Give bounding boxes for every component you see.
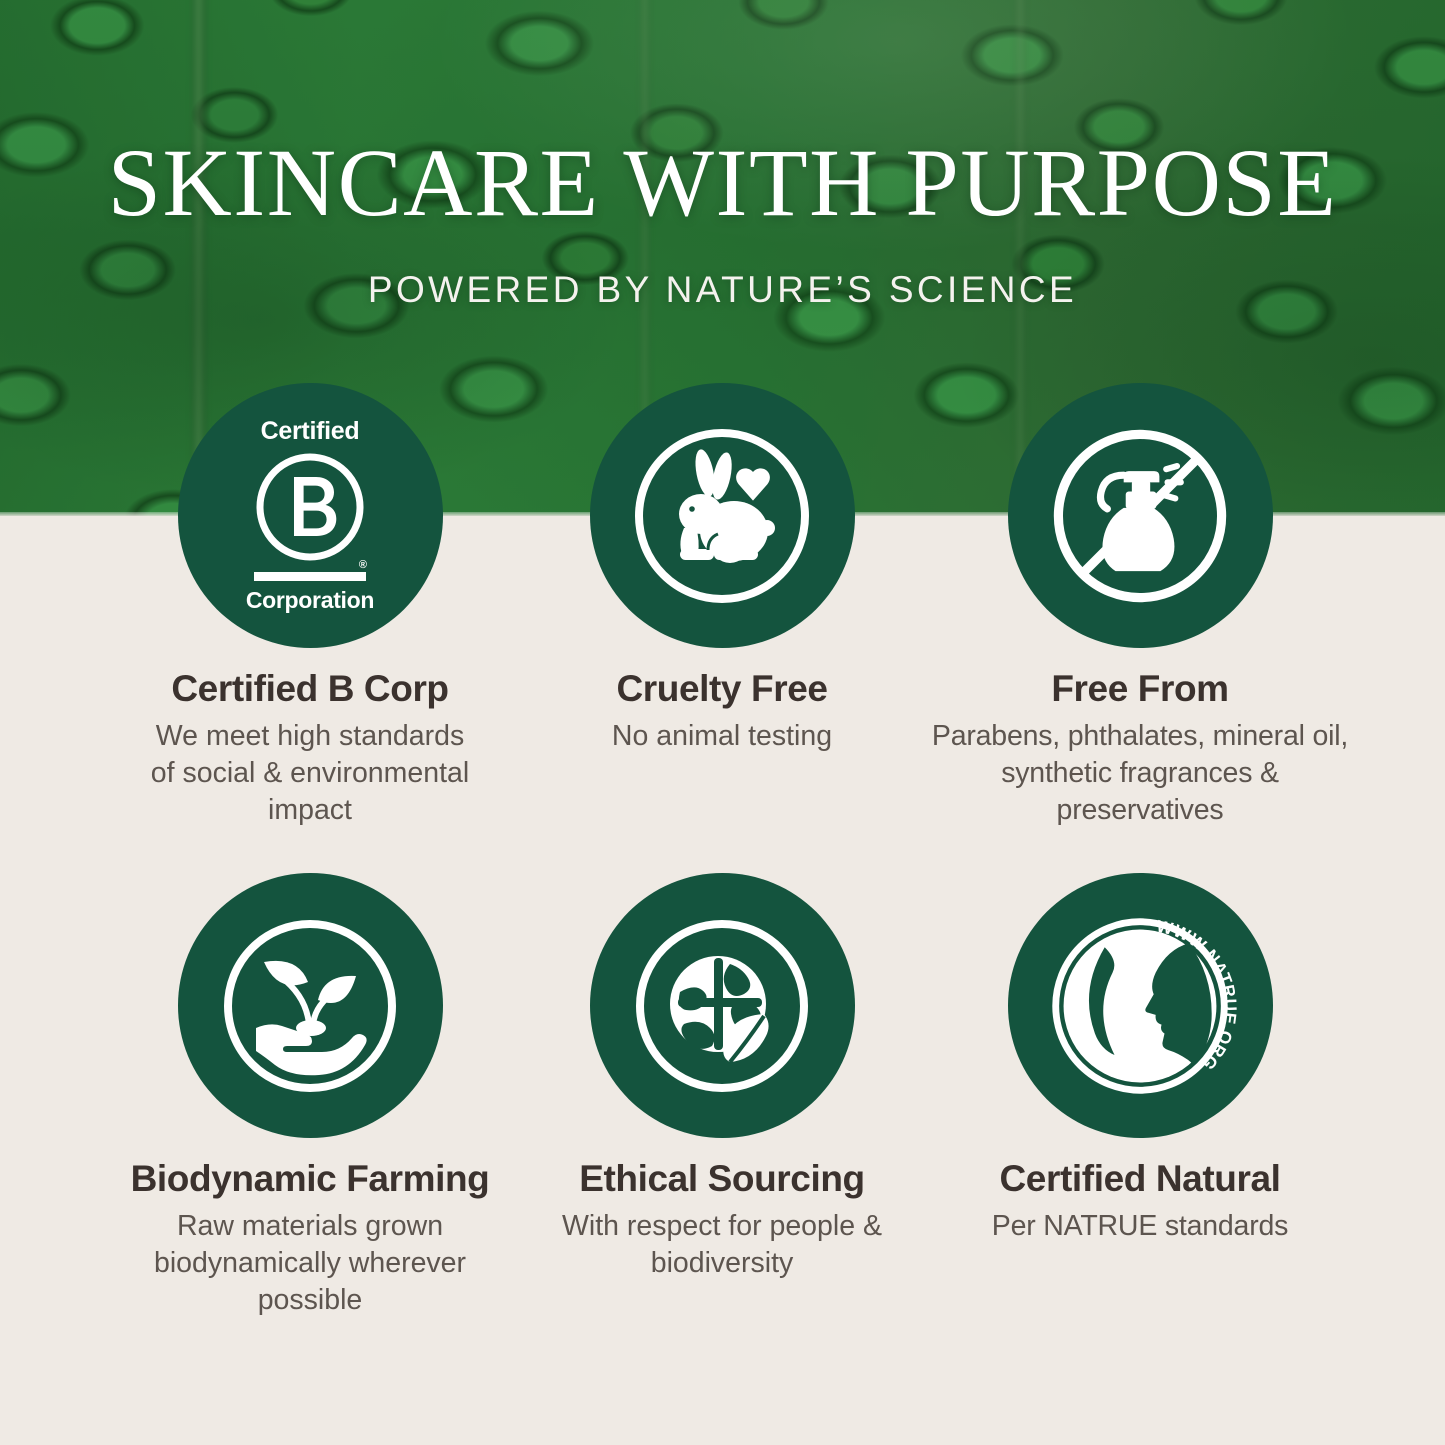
badge-description: Raw materials grown biodynamically where… bbox=[130, 1208, 490, 1319]
marketing-infographic: SKINCARE WITH PURPOSE POWERED BY NATURE’… bbox=[0, 0, 1445, 1445]
badge-caption: Biodynamic Farming Raw materials grown b… bbox=[100, 1158, 520, 1319]
badge-title: Free From bbox=[930, 668, 1350, 711]
badge-title: Cruelty Free bbox=[512, 668, 932, 711]
badge-description: Per NATRUE standards bbox=[930, 1208, 1350, 1245]
bcorp-b-mark bbox=[254, 451, 366, 563]
badge-description: Parabens, phthalates, mineral oil, synth… bbox=[930, 718, 1350, 829]
certified-b-corporation-logo: Certified ® Corporation bbox=[178, 383, 443, 648]
badge-item-cruelty-free: Cruelty Free No animal testing bbox=[512, 383, 932, 755]
badge-item-certified-b-corp: Certified ® Corporation Certified B Corp bbox=[100, 383, 520, 829]
natrue-certified-natural-logo: WWW.NATRUE.ORG bbox=[1008, 873, 1273, 1138]
badge-description: We meet high standards of social & envir… bbox=[145, 718, 475, 829]
badge-description: No animal testing bbox=[512, 718, 932, 755]
rabbit-with-heart-icon bbox=[590, 383, 855, 648]
bcorp-corporation-label: Corporation bbox=[178, 589, 443, 612]
badge-caption: Cruelty Free No animal testing bbox=[512, 668, 932, 755]
registered-trademark-icon: ® bbox=[359, 560, 367, 571]
badge-caption: Ethical Sourcing With respect for people… bbox=[512, 1158, 932, 1282]
badge-item-biodynamic-farming: Biodynamic Farming Raw materials grown b… bbox=[100, 873, 520, 1319]
badge-caption: Certified B Corp We meet high standards … bbox=[100, 668, 520, 829]
badge-grid: Certified ® Corporation Certified B Corp bbox=[0, 0, 1445, 1445]
badge-title: Certified B Corp bbox=[100, 668, 520, 711]
badge-caption: Certified Natural Per NATRUE standards bbox=[930, 1158, 1350, 1245]
badge-caption: Free From Parabens, phthalates, mineral … bbox=[930, 668, 1350, 829]
badge-title: Ethical Sourcing bbox=[512, 1158, 932, 1201]
badge-title: Certified Natural bbox=[930, 1158, 1350, 1201]
bcorp-divider-rule: ® bbox=[254, 572, 366, 581]
badge-title: Biodynamic Farming bbox=[100, 1158, 520, 1201]
no-spray-bottle-icon bbox=[1008, 383, 1273, 648]
badge-description: With respect for people & biodiversity bbox=[547, 1208, 897, 1282]
badge-item-ethical-sourcing: Ethical Sourcing With respect for people… bbox=[512, 873, 932, 1282]
globe-with-leaf-icon bbox=[590, 873, 855, 1138]
hand-holding-sprout-icon bbox=[178, 873, 443, 1138]
badge-item-certified-natural: WWW.NATRUE.ORG Certified Natural Per NAT… bbox=[930, 873, 1350, 1245]
bcorp-certified-label: Certified bbox=[178, 419, 443, 444]
badge-item-free-from: Free From Parabens, phthalates, mineral … bbox=[930, 383, 1350, 829]
